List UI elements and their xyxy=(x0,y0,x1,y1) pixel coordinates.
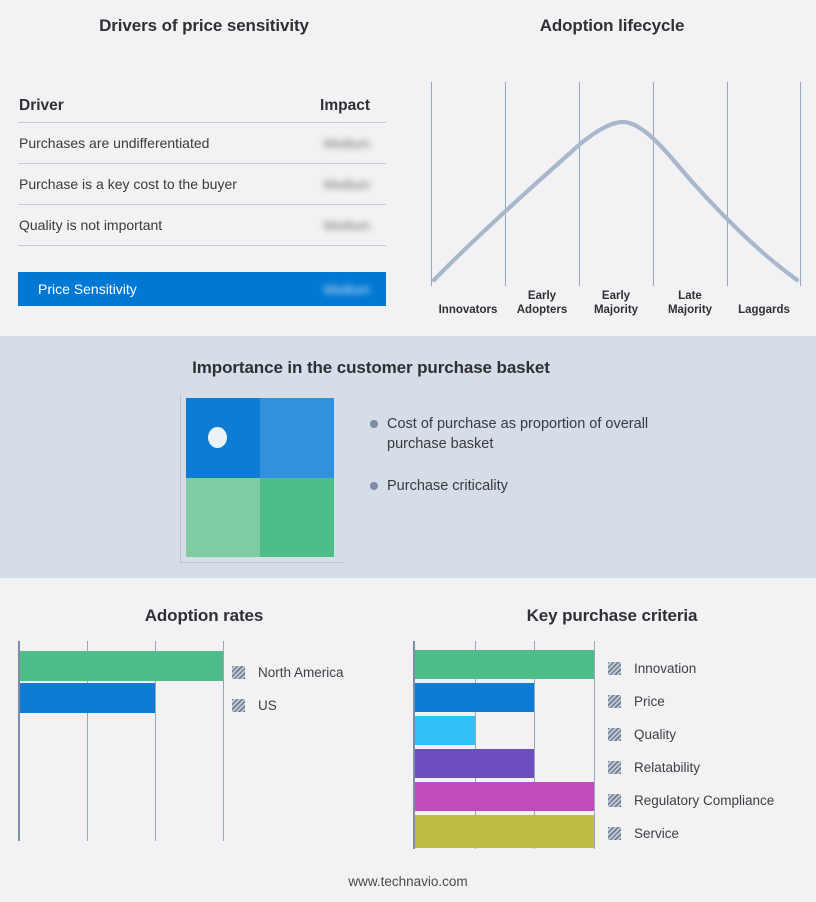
legend-label: Quality xyxy=(634,727,676,742)
bar-price xyxy=(415,683,534,712)
column-header-driver: Driver xyxy=(18,97,64,115)
legend-label: Innovation xyxy=(634,661,696,676)
key-purchase-criteria-panel: Key purchase criteria Innovation Price xyxy=(408,578,816,902)
hatched-swatch-icon xyxy=(608,662,621,675)
lifecycle-panel-title: Adoption lifecycle xyxy=(408,16,816,36)
adoption-lifecycle-panel: Adoption lifecycle Innovators Early Adop… xyxy=(408,0,816,336)
stage-line-top: Early xyxy=(505,289,579,303)
table-header-row: Driver Impact xyxy=(18,90,386,123)
bar-us xyxy=(20,683,155,713)
stage-line-top: Early xyxy=(579,289,653,303)
bar-service xyxy=(415,815,594,848)
legend-item: Service xyxy=(608,817,774,850)
legend-label: US xyxy=(258,698,277,713)
table-row: Purchase is a key cost to the buyer Medi… xyxy=(18,164,386,205)
criteria-plot-area xyxy=(413,641,598,849)
legend-item: Cost of purchase as proportion of overal… xyxy=(370,414,670,454)
column-header-impact: Impact xyxy=(320,97,386,115)
hatched-swatch-icon xyxy=(608,794,621,807)
quadrant-bottom-right xyxy=(260,478,334,558)
legend-item: Purchase criticality xyxy=(370,476,670,496)
price-sensitivity-summary-row: Price Sensitivity Medium xyxy=(18,272,386,306)
stage-line-bottom: Adopters xyxy=(505,303,579,317)
hatched-swatch-icon xyxy=(232,666,245,679)
driver-label: Purchases are undifferentiated xyxy=(18,135,209,151)
lifecycle-stage: Laggards xyxy=(727,278,801,318)
key-purchase-criteria-chart xyxy=(413,641,603,849)
summary-label: Price Sensitivity xyxy=(38,281,137,297)
bar-quality xyxy=(415,716,475,745)
stage-line-bottom: Majority xyxy=(579,303,653,317)
table-row: Quality is not important Medium xyxy=(18,205,386,246)
key-purchase-criteria-title: Key purchase criteria xyxy=(408,606,816,626)
adoption-rates-title: Adoption rates xyxy=(0,606,408,626)
bar-relatability xyxy=(415,749,534,778)
impact-value: Medium xyxy=(324,218,386,233)
legend-item: Regulatory Compliance xyxy=(608,784,774,817)
stage-line-bottom: Majority xyxy=(653,303,727,317)
basket-panel-title: Importance in the customer purchase bask… xyxy=(0,358,742,378)
hatched-swatch-icon xyxy=(608,695,621,708)
bullet-dot-icon xyxy=(370,420,378,428)
lifecycle-stage-labels: Innovators Early Adopters Early Majority… xyxy=(431,278,801,318)
legend-label: Service xyxy=(634,826,679,841)
bar-north-america xyxy=(20,651,223,681)
legend-label: Cost of purchase as proportion of overal… xyxy=(387,414,670,454)
impact-value: Medium xyxy=(324,177,386,192)
lifecycle-stage: Early Adopters xyxy=(505,278,579,318)
matrix-y-axis xyxy=(180,394,181,562)
lifecycle-chart: Innovators Early Adopters Early Majority… xyxy=(431,82,801,310)
purchase-basket-panel: Importance in the customer purchase bask… xyxy=(0,336,816,578)
legend-label: Purchase criticality xyxy=(387,476,508,496)
legend-item: Price xyxy=(608,685,774,718)
legend-item: Relatability xyxy=(608,751,774,784)
lifecycle-stage: Late Majority xyxy=(653,278,727,318)
lifecycle-stage: Innovators xyxy=(431,278,505,318)
adoption-rates-panel: Adoption rates North America US xyxy=(0,578,408,902)
basket-legend: Cost of purchase as proportion of overal… xyxy=(370,414,670,518)
stage-line-top: Late xyxy=(653,289,727,303)
bullet-dot-icon xyxy=(370,482,378,490)
hatched-swatch-icon xyxy=(608,827,621,840)
quadrant-bottom-left xyxy=(186,478,260,558)
legend-label: Relatability xyxy=(634,760,700,775)
legend-label: Regulatory Compliance xyxy=(634,793,774,808)
legend-label: Price xyxy=(634,694,665,709)
lifecycle-bell-curve xyxy=(431,82,801,286)
hatched-swatch-icon xyxy=(232,699,245,712)
bar-innovation xyxy=(415,650,594,679)
drivers-panel-title: Drivers of price sensitivity xyxy=(0,16,408,36)
drivers-table: Driver Impact Purchases are undifferenti… xyxy=(18,90,386,246)
hatched-swatch-icon xyxy=(608,728,621,741)
impact-value: Medium xyxy=(324,136,386,151)
lifecycle-stage: Early Majority xyxy=(579,278,653,318)
adoption-rates-legend: North America US xyxy=(232,656,344,722)
quadrant-top-right xyxy=(260,398,334,478)
stage-line-bottom: Innovators xyxy=(431,303,505,317)
stage-line-bottom: Laggards xyxy=(727,303,801,317)
adoption-rates-chart xyxy=(18,641,228,841)
matrix-quadrants xyxy=(186,398,334,557)
legend-label: North America xyxy=(258,665,344,680)
position-marker-dot xyxy=(208,427,227,448)
legend-item: Quality xyxy=(608,718,774,751)
footer-url: www.technavio.com xyxy=(0,874,816,889)
basket-matrix-chart xyxy=(180,398,348,508)
key-purchase-criteria-legend: Innovation Price Quality Relatability Re… xyxy=(608,652,774,850)
driver-label: Quality is not important xyxy=(18,217,162,233)
bar-regulatory-compliance xyxy=(415,782,594,811)
legend-item: North America xyxy=(232,656,344,689)
drivers-panel: Drivers of price sensitivity Driver Impa… xyxy=(0,0,408,336)
adoption-plot-area xyxy=(18,641,227,841)
matrix-x-axis xyxy=(180,562,344,563)
driver-label: Purchase is a key cost to the buyer xyxy=(18,176,237,192)
quadrant-top-left xyxy=(186,398,260,478)
legend-item: US xyxy=(232,689,344,722)
hatched-swatch-icon xyxy=(608,761,621,774)
summary-impact-value: Medium xyxy=(324,282,386,297)
table-row: Purchases are undifferentiated Medium xyxy=(18,123,386,164)
legend-item: Innovation xyxy=(608,652,774,685)
